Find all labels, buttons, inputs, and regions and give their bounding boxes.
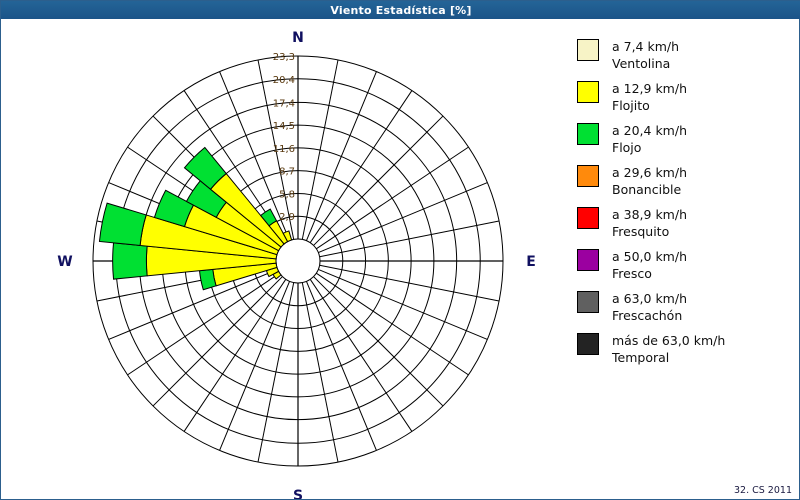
grid-spoke xyxy=(258,283,294,462)
legend-item[interactable]: a 12,9 km/h Flojito xyxy=(577,80,792,114)
legend-speed: a 63,0 km/h xyxy=(612,291,687,306)
legend-item[interactable]: más de 63,0 km/h Temporal xyxy=(577,332,792,366)
grid-spoke xyxy=(314,116,443,245)
legend-item[interactable]: a 7,4 km/h Ventolina xyxy=(577,38,792,72)
legend-item[interactable]: a 50,0 km/h Fresco xyxy=(577,248,792,282)
legend-speed: a 7,4 km/h xyxy=(612,39,679,54)
radial-tick-label: 11,6 xyxy=(273,144,295,155)
grid-spoke xyxy=(320,265,499,301)
compass-label-west: W xyxy=(57,254,72,270)
radial-tick-label: 2,9 xyxy=(279,212,295,223)
radial-tick-label: 23,3 xyxy=(273,52,295,63)
legend-name: Ventolina xyxy=(612,55,679,72)
legend-name: Temporal xyxy=(612,349,725,366)
radial-tick-label: 5,8 xyxy=(279,189,295,200)
color-swatch xyxy=(577,291,599,313)
legend-item[interactable]: a 20,4 km/h Flojo xyxy=(577,122,792,156)
color-swatch xyxy=(577,123,599,145)
grid-spoke xyxy=(320,221,499,257)
legend-item-label: a 50,0 km/h Fresco xyxy=(612,248,687,282)
petal-group xyxy=(99,147,291,289)
window-body: 2,95,88,711,614,517,420,423,3NESW a 7,4 … xyxy=(2,20,798,499)
wind-rose-petal xyxy=(200,269,217,289)
legend-speed: más de 63,0 km/h xyxy=(612,333,725,348)
radial-tick-label: 20,4 xyxy=(273,75,295,86)
grid-spoke xyxy=(302,60,338,239)
compass-label-north: N xyxy=(292,30,304,46)
legend-name: Bonancible xyxy=(612,181,687,198)
color-swatch xyxy=(577,249,599,271)
color-swatch xyxy=(577,333,599,355)
color-swatch xyxy=(577,207,599,229)
legend-name: Fresco xyxy=(612,265,687,282)
chart-window: Viento Estadística [%] 2,95,88,711,614,5… xyxy=(0,0,800,500)
compass-label-east: E xyxy=(526,254,536,270)
legend-name: Frescachón xyxy=(612,307,687,324)
page-title: Viento Estadística [%] xyxy=(330,4,471,17)
color-swatch xyxy=(577,165,599,187)
legend-item-label: a 20,4 km/h Flojo xyxy=(612,122,687,156)
legend-name: Flojito xyxy=(612,97,687,114)
wind-rose-svg: 2,95,88,711,614,517,420,423,3NESW xyxy=(2,20,567,499)
legend-speed: a 29,6 km/h xyxy=(612,165,687,180)
legend-item-label: a 38,9 km/h Fresquito xyxy=(612,206,687,240)
radial-tick-label: 17,4 xyxy=(273,98,295,109)
legend-item[interactable]: a 38,9 km/h Fresquito xyxy=(577,206,792,240)
wind-rose-chart: 2,95,88,711,614,517,420,423,3NESW xyxy=(2,20,567,499)
legend-speed: a 38,9 km/h xyxy=(612,207,687,222)
grid-spoke xyxy=(302,283,338,462)
color-swatch xyxy=(577,81,599,103)
grid-spoke xyxy=(314,277,443,406)
legend-item[interactable]: a 29,6 km/h Bonancible xyxy=(577,164,792,198)
legend-item-label: a 63,0 km/h Frescachón xyxy=(612,290,687,324)
wind-rose-petal xyxy=(113,243,148,279)
legend-item-label: a 29,6 km/h Bonancible xyxy=(612,164,687,198)
window-title-bar: Viento Estadística [%] xyxy=(1,1,800,19)
legend-name: Flojo xyxy=(612,139,687,156)
legend: a 7,4 km/h Ventolina a 12,9 km/h Flojito… xyxy=(577,38,792,374)
grid-spoke xyxy=(153,277,282,406)
legend-item[interactable]: a 63,0 km/h Frescachón xyxy=(577,290,792,324)
legend-speed: a 50,0 km/h xyxy=(612,249,687,264)
radial-tick-label: 14,5 xyxy=(273,121,295,132)
legend-speed: a 12,9 km/h xyxy=(612,81,687,96)
radial-tick-label: 8,7 xyxy=(279,167,295,178)
legend-item-label: más de 63,0 km/h Temporal xyxy=(612,332,725,366)
compass-label-south: S xyxy=(293,488,303,499)
legend-speed: a 20,4 km/h xyxy=(612,123,687,138)
legend-item-label: a 12,9 km/h Flojito xyxy=(612,80,687,114)
footer-caption: 32. CS 2011 xyxy=(734,485,792,496)
color-swatch xyxy=(577,39,599,61)
wind-rose-petal xyxy=(99,203,146,245)
legend-name: Fresquito xyxy=(612,223,687,240)
legend-item-label: a 7,4 km/h Ventolina xyxy=(612,38,679,72)
